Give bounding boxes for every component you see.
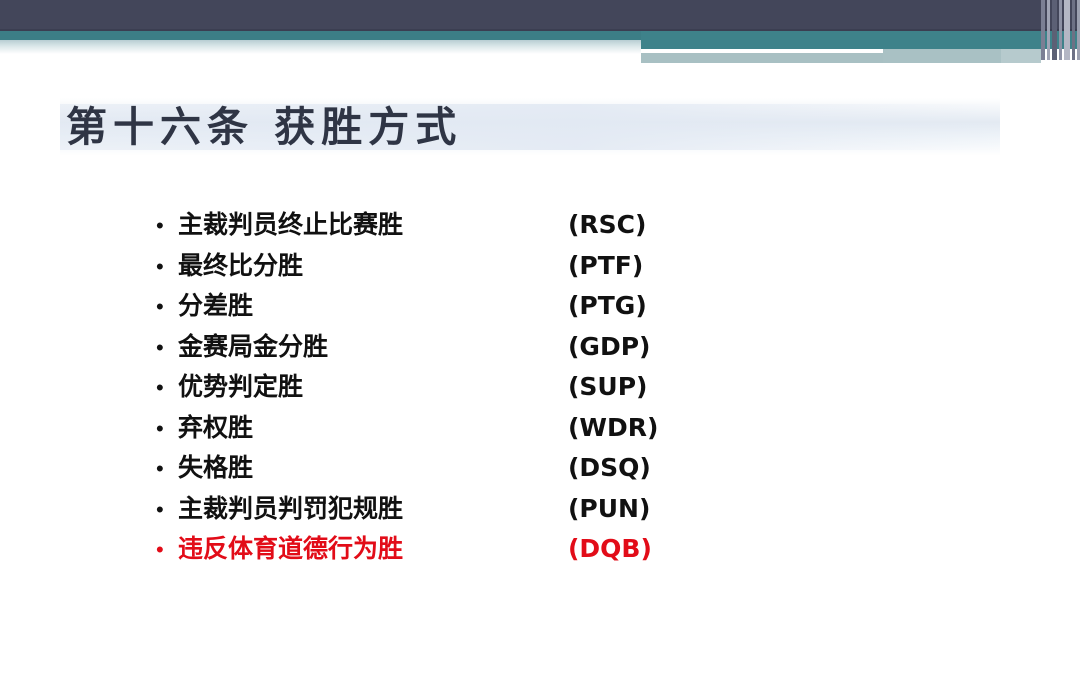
list-item-label: 主裁判员终止比赛胜: [178, 205, 568, 246]
list-item-label: 优势判定胜: [178, 367, 568, 408]
list-item: •最终比分胜(PTF): [156, 246, 696, 287]
list-item: •主裁判员判罚犯规胜(PUN): [156, 489, 696, 530]
list-item-code: (PTF): [568, 246, 643, 287]
list-item-label: 分差胜: [178, 286, 568, 327]
list-item: •优势判定胜(SUP): [156, 367, 696, 408]
bullet-icon: •: [156, 328, 178, 369]
list-item: •违反体育道德行为胜(DQB): [156, 529, 696, 570]
bullet-icon: •: [156, 449, 178, 490]
list-item: •金赛局金分胜(GDP): [156, 327, 696, 368]
list-item-label: 违反体育道德行为胜: [178, 529, 568, 570]
bullet-icon: •: [156, 368, 178, 409]
list-item-code: (GDP): [568, 327, 650, 368]
page-title: 第十六条 获胜方式: [66, 99, 462, 155]
list-item-label: 最终比分胜: [178, 246, 568, 287]
list-item-code: (RSC): [568, 205, 646, 246]
list-item-code: (PUN): [568, 489, 650, 530]
list-item-code: (PTG): [568, 286, 647, 327]
bullet-icon: •: [156, 409, 178, 450]
bullet-icon: •: [156, 490, 178, 531]
header-teal-band-left: [0, 31, 641, 40]
bullet-icon: •: [156, 247, 178, 288]
list-item-label: 金赛局金分胜: [178, 327, 568, 368]
bullet-icon: •: [156, 206, 178, 247]
list-item-label: 主裁判员判罚犯规胜: [178, 489, 568, 530]
list-item: •分差胜(PTG): [156, 286, 696, 327]
list-item-label: 失格胜: [178, 448, 568, 489]
list-item-code: (SUP): [568, 367, 647, 408]
bullet-icon: •: [156, 530, 178, 571]
list-item: •失格胜(DSQ): [156, 448, 696, 489]
list-item-label: 弃权胜: [178, 408, 568, 449]
list-item: •弃权胜(WDR): [156, 408, 696, 449]
header-corner-stripe: [1041, 0, 1045, 60]
bullet-icon: •: [156, 287, 178, 328]
header-left-fade: [0, 40, 641, 54]
header-pale-band-3: [1001, 49, 1041, 63]
header-corner-stripe: [1059, 0, 1062, 60]
header-teal-band-right: [641, 31, 1080, 49]
win-methods-list: •主裁判员终止比赛胜(RSC)•最终比分胜(PTF)•分差胜(PTG)•金赛局金…: [156, 205, 696, 570]
header-corner-stripe: [1064, 0, 1070, 60]
header-corner-stripe: [1072, 0, 1075, 60]
header-pale-band: [641, 53, 883, 63]
list-item: •主裁判员终止比赛胜(RSC): [156, 205, 696, 246]
header-corner-stripe: [1047, 0, 1050, 60]
list-item-code: (WDR): [568, 408, 658, 449]
list-item-code: (DQB): [568, 529, 652, 570]
slide-canvas: 第十六条 获胜方式 •主裁判员终止比赛胜(RSC)•最终比分胜(PTF)•分差胜…: [0, 0, 1080, 674]
header-corner-stripe: [1052, 0, 1057, 60]
list-item-code: (DSQ): [568, 448, 651, 489]
header-navy-band: [0, 0, 1080, 31]
